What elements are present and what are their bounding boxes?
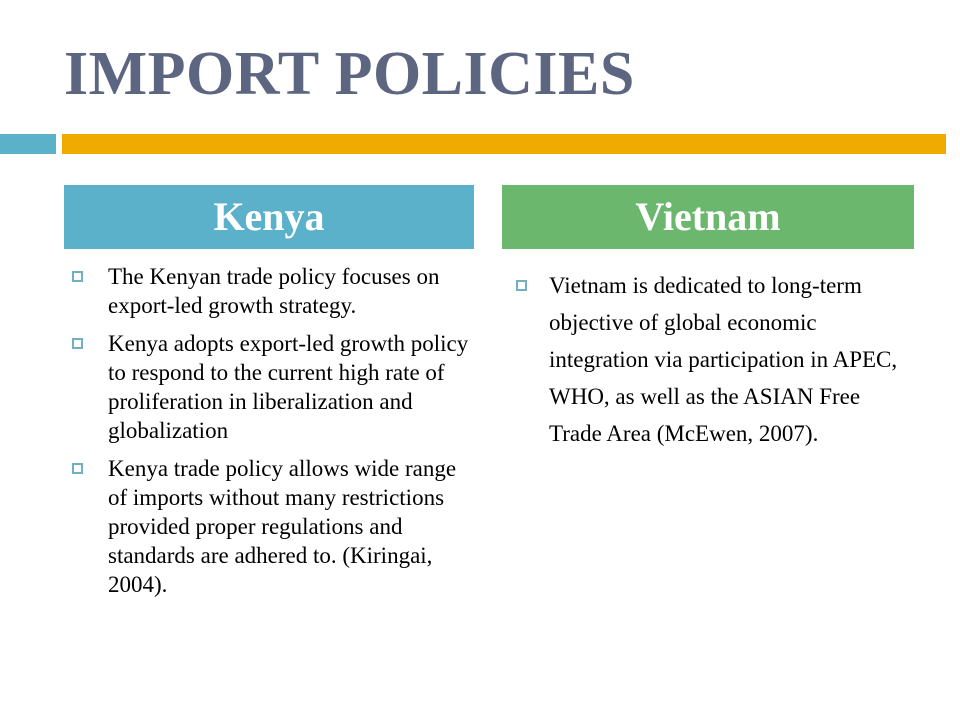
- list-item: The Kenyan trade policy focuses on expor…: [64, 262, 474, 320]
- column-header-kenya: Kenya: [64, 185, 474, 249]
- accent-square: [0, 134, 56, 154]
- accent-bar: [0, 134, 960, 154]
- bullet-list-vietnam: Vietnam is dedicated to long-term object…: [502, 267, 914, 452]
- slide: IMPORT POLICIES Kenya The Kenyan trade p…: [0, 0, 960, 720]
- square-bullet-icon: [516, 280, 527, 291]
- list-item: Kenya adopts export-led growth policy to…: [64, 329, 474, 445]
- list-item-text: Vietnam is dedicated to long-term object…: [549, 267, 914, 452]
- list-item-text: Kenya adopts export-led growth policy to…: [108, 329, 474, 445]
- column-header-vietnam: Vietnam: [502, 185, 914, 249]
- square-bullet-icon: [72, 271, 83, 282]
- bullet-list-kenya: The Kenyan trade policy focuses on expor…: [64, 262, 474, 599]
- list-item: Vietnam is dedicated to long-term object…: [502, 267, 914, 452]
- list-item: Kenya trade policy allows wide range of …: [64, 454, 474, 599]
- column-kenya: Kenya The Kenyan trade policy focuses on…: [64, 185, 474, 608]
- page-title: IMPORT POLICIES: [64, 36, 904, 112]
- accent-rule: [62, 134, 946, 154]
- list-item-text: Kenya trade policy allows wide range of …: [108, 454, 474, 599]
- square-bullet-icon: [72, 338, 83, 349]
- square-bullet-icon: [72, 463, 83, 474]
- list-item-text: The Kenyan trade policy focuses on expor…: [108, 262, 474, 320]
- column-vietnam: Vietnam Vietnam is dedicated to long-ter…: [502, 185, 914, 452]
